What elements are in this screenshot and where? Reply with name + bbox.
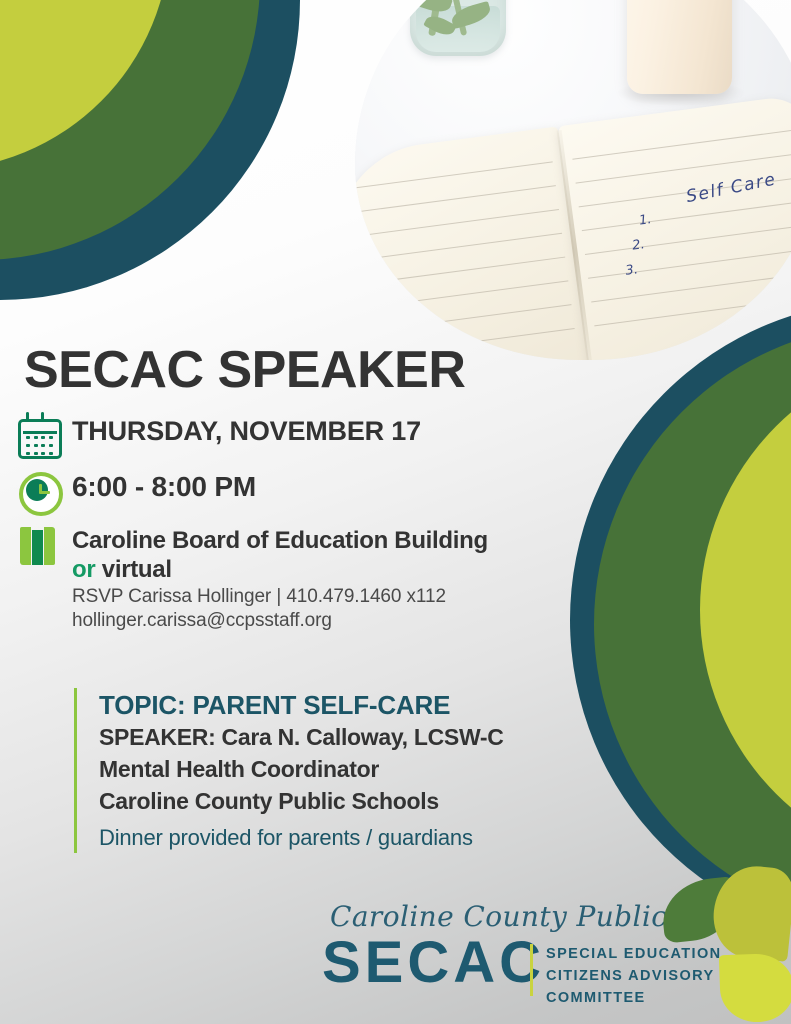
notebook-item-2: 2. bbox=[631, 237, 645, 253]
page-title: SECAC SPEAKER bbox=[24, 344, 465, 396]
notebook-left-page bbox=[355, 126, 591, 360]
notebook-title-text: Self Care bbox=[685, 169, 779, 207]
clock-icon bbox=[16, 468, 60, 514]
logo-acronym: SECAC bbox=[322, 934, 545, 992]
topic-organization: Caroline County Public Schools bbox=[99, 786, 659, 818]
logo-leaf-group bbox=[652, 872, 791, 1022]
detail-row-date: THURSDAY, NOVEMBER 17 bbox=[16, 414, 636, 460]
topic-speaker-title: Mental Health Coordinator bbox=[99, 754, 659, 786]
notebook-item-3: 3. bbox=[625, 262, 639, 278]
topic-note: Dinner provided for parents / guardians bbox=[99, 818, 659, 853]
rsvp-email[interactable]: hollinger.carissa@ccpsstaff.org bbox=[72, 609, 488, 633]
topic-heading: TOPIC: PARENT SELF-CARE bbox=[99, 688, 659, 722]
secac-logo: Caroline County Public Schools SECAC SPE… bbox=[322, 900, 791, 1020]
event-venue: Caroline Board of Education Building bbox=[72, 526, 488, 555]
event-alt-mode: or virtual bbox=[72, 555, 488, 584]
rsvp-contact: RSVP Carissa Hollinger | 410.479.1460 x1… bbox=[72, 585, 488, 609]
topic-speaker: SPEAKER: Cara N. Calloway, LCSW-C bbox=[99, 722, 659, 754]
self-care-photo: Self Care 1. 2. 3. bbox=[355, 0, 791, 360]
detail-row-time: 6:00 - 8:00 PM bbox=[16, 468, 636, 514]
event-details: THURSDAY, NOVEMBER 17 6:00 - 8:00 PM bbox=[16, 414, 636, 637]
calendar-icon bbox=[16, 414, 60, 460]
or-word: or bbox=[72, 556, 95, 583]
event-date: THURSDAY, NOVEMBER 17 bbox=[72, 416, 421, 448]
notebook-right-page: Self Care 1. 2. 3. bbox=[558, 94, 791, 360]
leaf-yellow-icon bbox=[719, 953, 791, 1024]
detail-row-location: Caroline Board of Education Building or … bbox=[16, 524, 636, 633]
candle-icon bbox=[627, 0, 732, 94]
event-time: 6:00 - 8:00 PM bbox=[72, 470, 256, 503]
flyer-poster: Self Care 1. 2. 3. SECAC SPEAKER bbox=[0, 0, 791, 1024]
virtual-word: virtual bbox=[95, 556, 171, 583]
topic-block: TOPIC: PARENT SELF-CARE SPEAKER: Cara N.… bbox=[74, 688, 659, 853]
logo-divider bbox=[530, 944, 533, 996]
notebook-item-1: 1. bbox=[638, 212, 652, 228]
map-icon bbox=[16, 524, 60, 570]
